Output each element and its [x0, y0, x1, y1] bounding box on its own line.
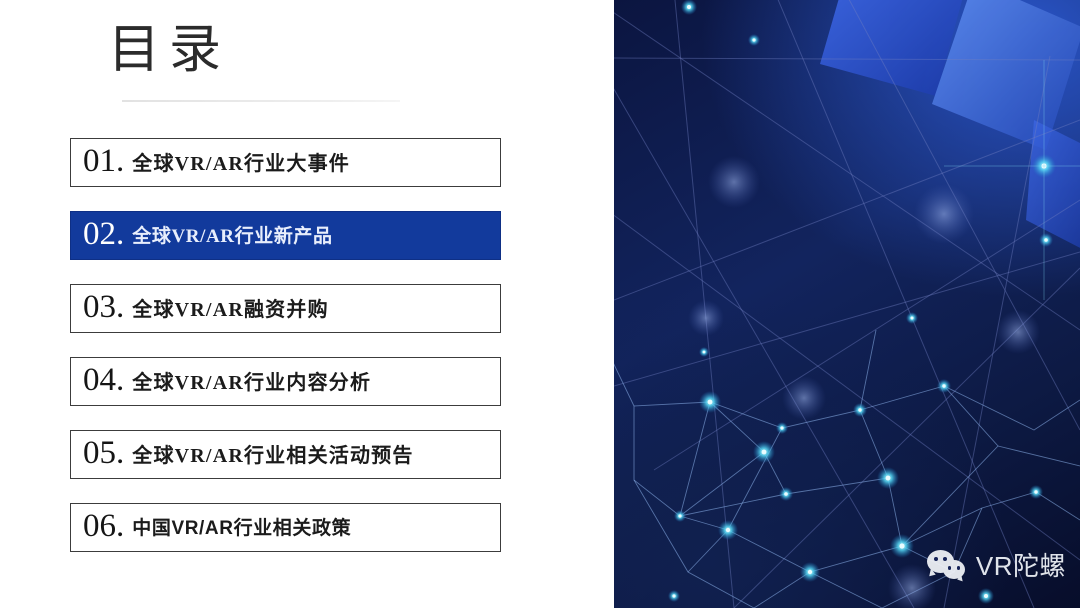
toc-item-number: 03. — [83, 291, 124, 324]
toc-item-label: 全球VR/AR行业新产品 — [132, 227, 332, 246]
toc-item-02[interactable]: 02. 全球VR/AR行业新产品 — [70, 211, 501, 260]
toc-item-number: 01. — [83, 145, 124, 178]
toc-item-number: 04. — [83, 364, 124, 397]
toc-item-label: 中国VR/AR行业相关政策 — [132, 519, 351, 538]
toc-item-label: 全球VR/AR行业相关活动预告 — [132, 446, 413, 466]
toc-item-label: 全球VR/AR行业大事件 — [132, 154, 350, 174]
slide-canvas: 目录 01. 全球VR/AR行业大事件 02. 全球VR/AR行业新产品 03.… — [0, 0, 1080, 608]
watermark-label: VR陀螺 — [976, 553, 1066, 579]
title-underline-rule — [122, 100, 400, 102]
toc-item-number: 02. — [83, 218, 124, 251]
toc-list: 01. 全球VR/AR行业大事件 02. 全球VR/AR行业新产品 03. 全球… — [70, 138, 501, 552]
toc-item-03[interactable]: 03. 全球VR/AR融资并购 — [70, 284, 501, 333]
toc-item-06[interactable]: 06. 中国VR/AR行业相关政策 — [70, 503, 501, 552]
toc-item-label: 全球VR/AR融资并购 — [132, 300, 329, 320]
watermark: VR陀螺 — [927, 549, 1066, 582]
toc-item-number: 06. — [83, 510, 124, 543]
wechat-icon — [927, 549, 967, 582]
toc-item-04[interactable]: 04. 全球VR/AR行业内容分析 — [70, 357, 501, 406]
toc-item-label: 全球VR/AR行业内容分析 — [132, 373, 371, 393]
toc-item-05[interactable]: 05. 全球VR/AR行业相关活动预告 — [70, 430, 501, 479]
toc-item-number: 05. — [83, 437, 124, 470]
left-content-panel: 目录 01. 全球VR/AR行业大事件 02. 全球VR/AR行业新产品 03.… — [0, 0, 614, 608]
page-title: 目录 — [108, 24, 230, 79]
network-constellation-graphic — [614, 0, 1080, 608]
decorative-right-panel: VR陀螺 — [614, 0, 1080, 608]
toc-item-01[interactable]: 01. 全球VR/AR行业大事件 — [70, 138, 501, 187]
